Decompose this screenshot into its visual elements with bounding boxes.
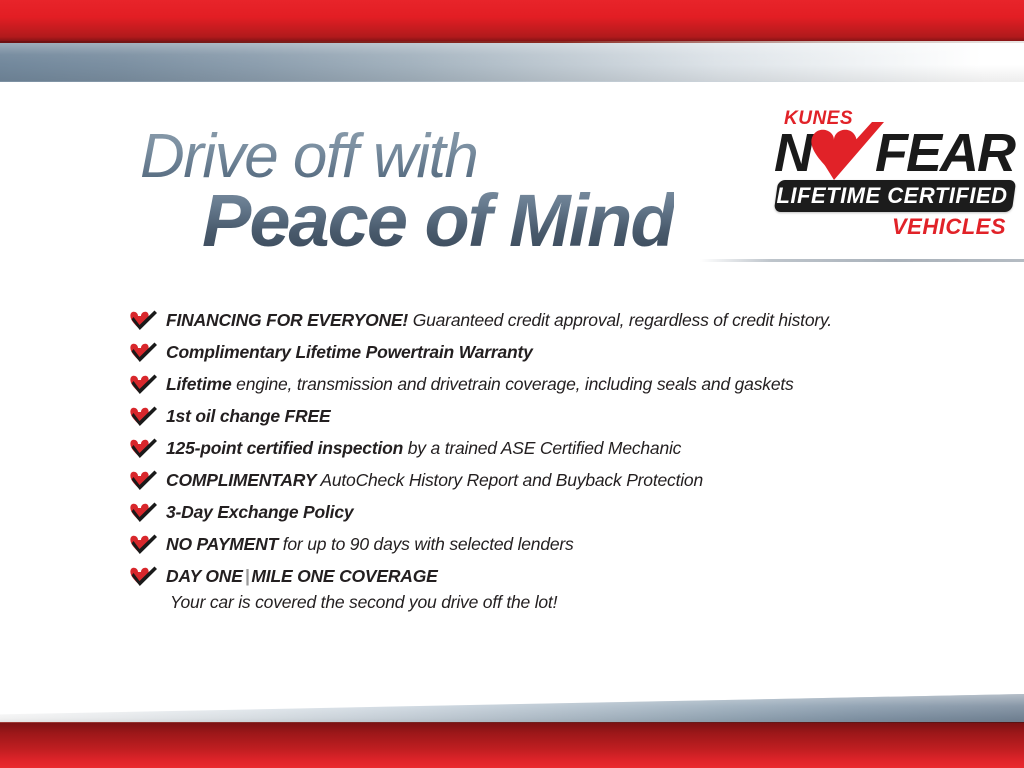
list-item-text: Complimentary Lifetime Powertrain Warran… [166, 338, 920, 364]
list-item-lead: DAY ONE [166, 566, 243, 586]
heart-check-bullet-icon [130, 310, 158, 332]
list-item: 125-point certified inspection by a trai… [130, 434, 920, 466]
logo-word-fear: FEAR [875, 126, 1014, 180]
list-item-text: COMPLIMENTARY AutoCheck History Report a… [166, 466, 920, 492]
heart-check-bullet-icon [130, 374, 158, 396]
list-item-lead: FINANCING FOR EVERYONE! [166, 310, 408, 330]
list-item: DAY ONE|MILE ONE COVERAGE Your car is co… [130, 562, 920, 618]
list-item: FINANCING FOR EVERYONE! Guaranteed credi… [130, 306, 920, 338]
promotional-banner: Drive off with Peace of Mind KUNES N FEA… [0, 0, 1024, 768]
logo-certified-text: LIFETIME CERTIFIED [770, 181, 1014, 211]
list-item-text: FINANCING FOR EVERYONE! Guaranteed credi… [166, 306, 920, 332]
benefits-list: FINANCING FOR EVERYONE! Guaranteed credi… [130, 306, 920, 618]
heart-check-bullet-icon [130, 342, 158, 364]
list-item-lead: 3-Day Exchange Policy [166, 502, 353, 522]
list-item-subtext: Your car is covered the second you drive… [166, 588, 920, 613]
list-item-rest: engine, transmission and drivetrain cove… [232, 374, 794, 394]
list-item: Lifetime engine, transmission and drivet… [130, 370, 920, 402]
list-item-text: 3-Day Exchange Policy [166, 498, 920, 524]
list-item-lead: 1st oil change FREE [166, 406, 330, 426]
list-item-rest: for up to 90 days with selected lenders [278, 534, 574, 554]
kunes-no-fear-logo: KUNES N FEAR LIFETIME CERTIFIED VEHICLES [770, 108, 1014, 243]
list-item-rest: by a trained ASE Certified Mechanic [403, 438, 681, 458]
bottom-red-band [0, 723, 1024, 768]
list-item-lead: Complimentary Lifetime Powertrain Warran… [166, 342, 533, 362]
list-item-rest: Guaranteed credit approval, regardless o… [408, 310, 832, 330]
list-item-text: 1st oil change FREE [166, 402, 920, 428]
heart-check-bullet-icon [130, 470, 158, 492]
list-item-lead: COMPLIMENTARY [166, 470, 316, 490]
list-item-text: Lifetime engine, transmission and drivet… [166, 370, 920, 396]
headline: Drive off with Peace of Mind [140, 126, 674, 258]
list-item-lead: NO PAYMENT [166, 534, 278, 554]
logo-no-fear-wordmark: N FEAR [770, 126, 1014, 180]
list-item: 1st oil change FREE [130, 402, 920, 434]
heart-check-bullet-icon [130, 534, 158, 556]
list-item-text: NO PAYMENT for up to 90 days with select… [166, 530, 920, 556]
top-silver-band-hairline [0, 81, 1024, 82]
heart-check-bullet-icon [130, 566, 158, 588]
headline-line-two: Peace of Mind [202, 184, 674, 258]
heart-check-bullet-icon [130, 406, 158, 428]
list-item-lead-two: MILE ONE COVERAGE [251, 566, 437, 586]
list-item: COMPLIMENTARY AutoCheck History Report a… [130, 466, 920, 498]
header-divider [700, 259, 1024, 262]
logo-vehicles-text: VEHICLES [892, 214, 1006, 240]
list-item-text: 125-point certified inspection by a trai… [166, 434, 920, 460]
list-item-lead: Lifetime [166, 374, 232, 394]
bottom-silver-band-sheen [0, 694, 1024, 724]
list-item-lead: 125-point certified inspection [166, 438, 403, 458]
top-red-band [0, 0, 1024, 42]
list-item: Complimentary Lifetime Powertrain Warran… [130, 338, 920, 370]
heart-check-bullet-icon [130, 438, 158, 460]
list-item-text: DAY ONE|MILE ONE COVERAGE [166, 562, 920, 588]
list-item-rest: AutoCheck History Report and Buyback Pro… [316, 470, 703, 490]
top-silver-band-sheen [0, 43, 1024, 82]
heart-check-bullet-icon [130, 502, 158, 524]
list-item: 3-Day Exchange Policy [130, 498, 920, 530]
list-item: NO PAYMENT for up to 90 days with select… [130, 530, 920, 562]
